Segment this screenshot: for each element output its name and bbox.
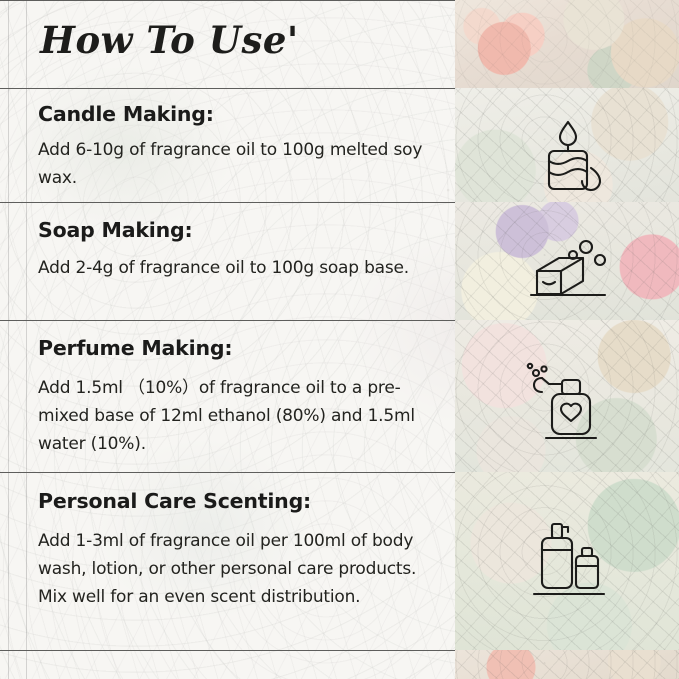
section-heading-soap-making: Soap Making: bbox=[38, 218, 192, 242]
section-body-personal-care-scenting: Add 1-3ml of fragrance oil per 100ml of … bbox=[38, 527, 438, 611]
divider-after-perfume-making bbox=[0, 472, 455, 473]
infographic-page: How To Use' Candle Making: Add 6-10g of … bbox=[0, 0, 679, 679]
section-heading-candle-making: Candle Making: bbox=[38, 102, 214, 126]
section-heading-personal-care-scenting: Personal Care Scenting: bbox=[38, 489, 311, 513]
photo-column bbox=[455, 0, 679, 679]
divider-after-soap-making bbox=[0, 320, 455, 321]
text-column: How To Use' Candle Making: Add 6-10g of … bbox=[0, 0, 455, 679]
section-body-candle-making: Add 6-10g of fragrance oil to 100g melte… bbox=[38, 136, 438, 192]
photo-band-bottom-floral bbox=[455, 650, 679, 679]
soap-bar-icon bbox=[513, 232, 623, 310]
divider-top bbox=[0, 0, 455, 1]
icon-strip bbox=[455, 88, 679, 650]
section-heading-perfume-making: Perfume Making: bbox=[38, 336, 232, 360]
candle-icon bbox=[513, 116, 623, 194]
divider-after-candle-making bbox=[0, 202, 455, 203]
photo-band-top-floral bbox=[455, 0, 679, 88]
section-body-perfume-making: Add 1.5ml （10%）of fragrance oil to a pre… bbox=[38, 374, 438, 458]
divider-after-title bbox=[0, 88, 455, 89]
lotion-bottles-icon bbox=[513, 508, 623, 604]
section-body-soap-making: Add 2-4g of fragrance oil to 100g soap b… bbox=[38, 254, 438, 282]
divider-bottom bbox=[0, 650, 455, 651]
perfume-bottle-icon bbox=[513, 360, 623, 446]
page-title: How To Use' bbox=[40, 18, 299, 62]
